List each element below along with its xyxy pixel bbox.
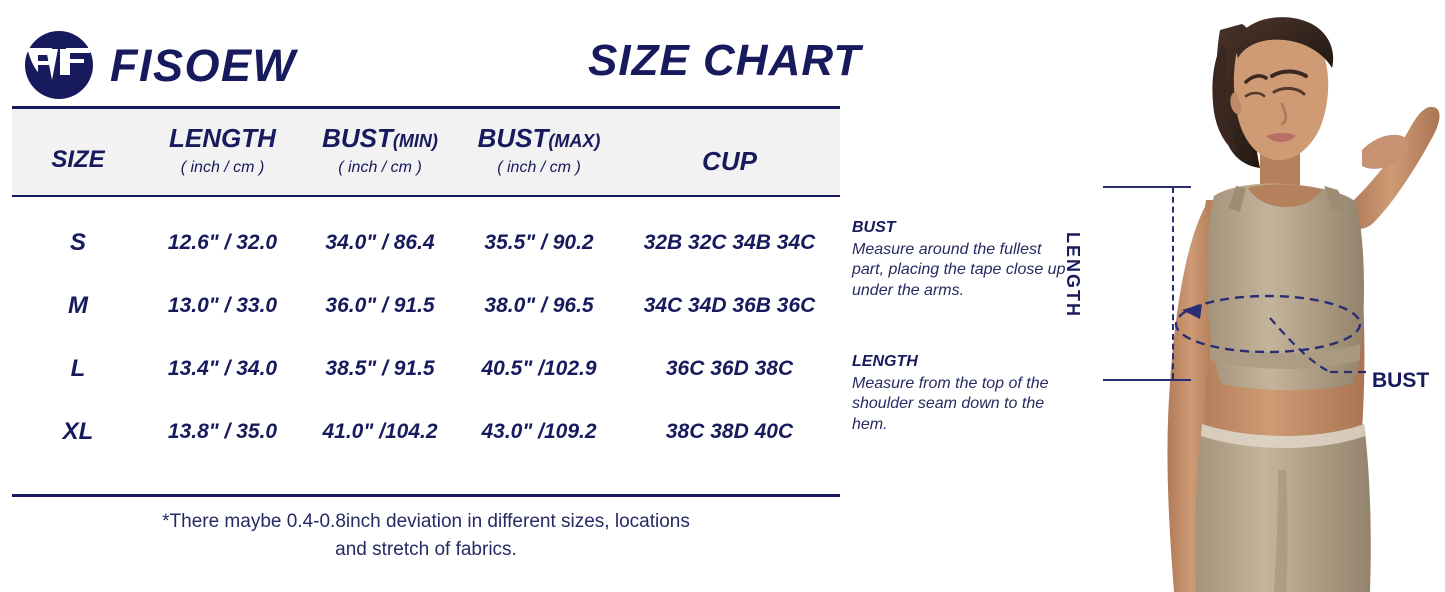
cell-size: XL <box>12 418 144 446</box>
cell-bust-max: 43.0" /109.2 <box>459 420 619 444</box>
table-row: S 12.6" / 32.0 34.0" / 86.4 35.5" / 90.2… <box>12 211 840 274</box>
column-units: ( inch / cm ) <box>144 159 301 177</box>
brand-logo: FISOEW <box>22 28 297 102</box>
cell-bust-max: 35.5" / 90.2 <box>459 231 619 255</box>
table-row: XL 13.8" / 35.0 41.0" /104.2 43.0" /109.… <box>12 400 840 463</box>
instruction-title: BUST <box>852 219 1067 237</box>
cell-bust-min: 38.5" / 91.5 <box>301 357 459 381</box>
column-title: BUST <box>478 123 549 153</box>
length-measure-label: LENGTH <box>1062 232 1083 318</box>
column-title: BUST <box>322 123 393 153</box>
footnote-line-1: *There maybe 0.4-0.8inch deviation in di… <box>162 511 690 532</box>
table-row: M 13.0" / 33.0 36.0" / 91.5 38.0" / 96.5… <box>12 274 840 337</box>
brand-name: FISOEW <box>110 43 297 88</box>
column-title: LENGTH <box>169 123 276 153</box>
cell-size: L <box>12 355 144 383</box>
cell-length: 13.8" / 35.0 <box>144 420 301 444</box>
cell-length: 13.0" / 33.0 <box>144 294 301 318</box>
table-row: L 13.4" / 34.0 38.5" / 91.5 40.5" /102.9… <box>12 337 840 400</box>
length-tick-top <box>1103 186 1191 188</box>
column-units: ( inch / cm ) <box>301 159 459 177</box>
cell-bust-min: 41.0" /104.2 <box>301 420 459 444</box>
table-header-row: SIZE LENGTH ( inch / cm ) BUST(MIN) ( in… <box>12 109 840 195</box>
table-bottom-rule <box>12 494 840 497</box>
table-body: S 12.6" / 32.0 34.0" / 86.4 35.5" / 90.2… <box>12 197 840 463</box>
cell-cup: 38C 38D 40C <box>619 420 840 444</box>
fisoew-wing-circle-logo-icon <box>22 28 96 102</box>
column-header-size: SIZE <box>12 125 144 174</box>
cell-cup: 32B 32C 34B 34C <box>619 231 840 255</box>
table-footnote: *There maybe 0.4-0.8inch deviation in di… <box>12 508 840 563</box>
cell-size: S <box>12 229 144 257</box>
page-title: SIZE CHART <box>588 36 861 86</box>
instruction-body: Measure from the top of the shoulder sea… <box>852 374 1067 435</box>
instruction-length: LENGTH Measure from the top of the shoul… <box>852 353 1067 435</box>
column-header-bust-max: BUST(MAX) ( inch / cm ) <box>459 125 619 177</box>
size-chart-page: FISOEW SIZE CHART SIZE LENGTH ( inch / c… <box>0 0 1445 592</box>
column-header-length: LENGTH ( inch / cm ) <box>144 125 301 177</box>
size-table: SIZE LENGTH ( inch / cm ) BUST(MIN) ( in… <box>12 106 840 496</box>
column-paren: (MIN) <box>393 131 438 151</box>
cell-cup: 34C 34D 36B 36C <box>619 294 840 318</box>
column-header-cup: CUP <box>619 125 840 177</box>
length-tick-bottom <box>1103 379 1191 381</box>
footnote-line-2: and stretch of fabrics. <box>12 536 840 564</box>
bust-measure-label: BUST <box>1372 369 1429 393</box>
cell-bust-max: 38.0" / 96.5 <box>459 294 619 318</box>
instruction-bust: BUST Measure around the fullest part, pl… <box>852 219 1067 301</box>
cell-length: 13.4" / 34.0 <box>144 357 301 381</box>
cell-size: M <box>12 292 144 320</box>
column-paren: (MAX) <box>548 131 600 151</box>
cell-bust-min: 34.0" / 86.4 <box>301 231 459 255</box>
bust-leader-line <box>1268 316 1388 396</box>
instruction-title: LENGTH <box>852 353 1067 371</box>
cell-bust-min: 36.0" / 91.5 <box>301 294 459 318</box>
column-header-bust-min: BUST(MIN) ( inch / cm ) <box>301 125 459 177</box>
column-units: ( inch / cm ) <box>459 159 619 177</box>
cell-length: 12.6" / 32.0 <box>144 231 301 255</box>
instruction-body: Measure around the fullest part, placing… <box>852 240 1067 301</box>
cell-bust-max: 40.5" /102.9 <box>459 357 619 381</box>
cell-cup: 36C 36D 38C <box>619 357 840 381</box>
